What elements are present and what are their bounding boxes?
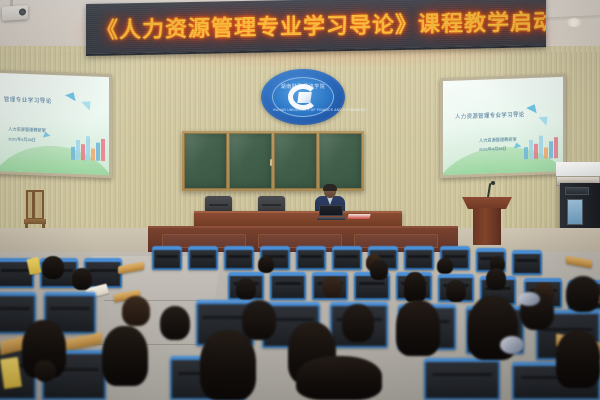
speaking-podium[interactable] xyxy=(462,197,512,245)
ceiling-downlight xyxy=(566,18,582,27)
blackboard-panels xyxy=(184,133,362,189)
audience-head xyxy=(404,272,426,302)
left-slide-date: 2021年4月28日 xyxy=(8,136,36,143)
chair-back xyxy=(26,190,44,220)
audience-head xyxy=(200,330,256,400)
chair-back-slit xyxy=(262,204,281,206)
slide-city-skyline xyxy=(71,136,105,161)
audience-head xyxy=(446,280,466,302)
audience-head xyxy=(437,258,453,274)
presenter-hair xyxy=(323,184,337,191)
chair-slat xyxy=(32,192,35,218)
left-slide: 管理专业学习导论 人力资源管理教研室 2021年4月28日 xyxy=(0,73,109,175)
av-rack-display[interactable] xyxy=(567,199,583,225)
audience-head xyxy=(566,276,600,312)
audience-head xyxy=(322,276,342,298)
slide-city-skyline xyxy=(524,135,558,159)
audience-head xyxy=(556,330,600,388)
blackboard-panel xyxy=(184,133,227,189)
left-projection-screen: 管理专业学习导论 人力资源管理教研室 2021年4月28日 xyxy=(0,70,112,179)
audience-head xyxy=(242,300,276,340)
audience-hair-bun xyxy=(34,360,56,382)
audience-head xyxy=(236,278,256,300)
right-wall-window xyxy=(556,162,600,176)
projector-lens-icon xyxy=(19,8,26,15)
presenter-laptop[interactable] xyxy=(318,205,344,218)
blackboard xyxy=(182,131,364,191)
lecture-hall-photo: 《人力资源管理专业学习导论》课程教学启动会 湖南财政经济学院 HUNAN UNI… xyxy=(0,0,600,400)
audience-head xyxy=(486,268,506,290)
blackboard-slide-knob[interactable] xyxy=(270,159,272,166)
audience-head xyxy=(42,256,64,279)
emblem-inner-ring: 湖南财政经济学院 HUNAN UNIVERSITY OF FINANCE AND… xyxy=(272,77,334,117)
led-banner: 《人力资源管理专业学习导论》课程教学启动会 xyxy=(86,0,546,56)
emblem-book-icon xyxy=(297,92,312,103)
audience-head xyxy=(122,296,150,326)
audience-head xyxy=(370,260,388,280)
emblem-english-name: HUNAN UNIVERSITY OF FINANCE AND ECONOMIC… xyxy=(273,108,333,112)
audience-head xyxy=(342,304,374,342)
lecture-seat[interactable] xyxy=(404,246,434,270)
lecture-seat[interactable] xyxy=(332,246,362,270)
right-slide-date: 2021年4月28日 xyxy=(479,146,507,153)
audience-head xyxy=(102,326,148,386)
ceiling-projector xyxy=(2,5,28,21)
lecture-seat[interactable] xyxy=(188,246,218,270)
lecture-seat[interactable] xyxy=(270,272,306,300)
lecture-seat[interactable] xyxy=(224,246,254,270)
lecture-seat[interactable] xyxy=(424,358,500,400)
podium-body xyxy=(473,208,501,245)
audience-head xyxy=(160,306,190,340)
hair-scrunchie xyxy=(518,292,540,306)
lecture-seat[interactable] xyxy=(512,250,542,275)
right-slide: 人力资源管理专业学习导论 人力资源管理教研室 2021年4月28日 xyxy=(443,77,563,175)
blackboard-panel xyxy=(274,133,317,189)
audience-head xyxy=(296,356,382,400)
blackboard-panel xyxy=(319,133,362,189)
laptop-screen xyxy=(319,205,343,216)
right-slide-title: 人力资源管理专业学习导论 xyxy=(455,109,551,120)
led-banner-text: 《人力资源管理专业学习导论》课程教学启动会 xyxy=(96,4,538,44)
right-projection-screen: 人力资源管理专业学习导论 人力资源管理教研室 2021年4月28日 xyxy=(440,74,566,178)
audience-head xyxy=(396,300,440,356)
left-slide-title: 管理专业学习导论 xyxy=(4,95,94,106)
laptop-keyboard xyxy=(317,217,345,220)
lecture-seat[interactable] xyxy=(152,246,182,270)
av-rack-panel[interactable] xyxy=(565,187,589,195)
left-slide-subtitle: 人力资源管理教研室 xyxy=(8,126,46,133)
chair-back-slit xyxy=(209,204,228,206)
right-slide-subtitle: 人力资源管理教研室 xyxy=(479,137,517,144)
blackboard-panel xyxy=(229,133,272,189)
red-documents xyxy=(347,214,370,219)
microphone-head-icon xyxy=(491,181,495,185)
hair-scrunchie xyxy=(500,336,524,354)
audience-head xyxy=(258,256,274,273)
university-emblem: 湖南财政经济学院 HUNAN UNIVERSITY OF FINANCE AND… xyxy=(261,69,345,125)
audience-head xyxy=(72,268,92,290)
lecture-seat[interactable] xyxy=(296,246,326,270)
